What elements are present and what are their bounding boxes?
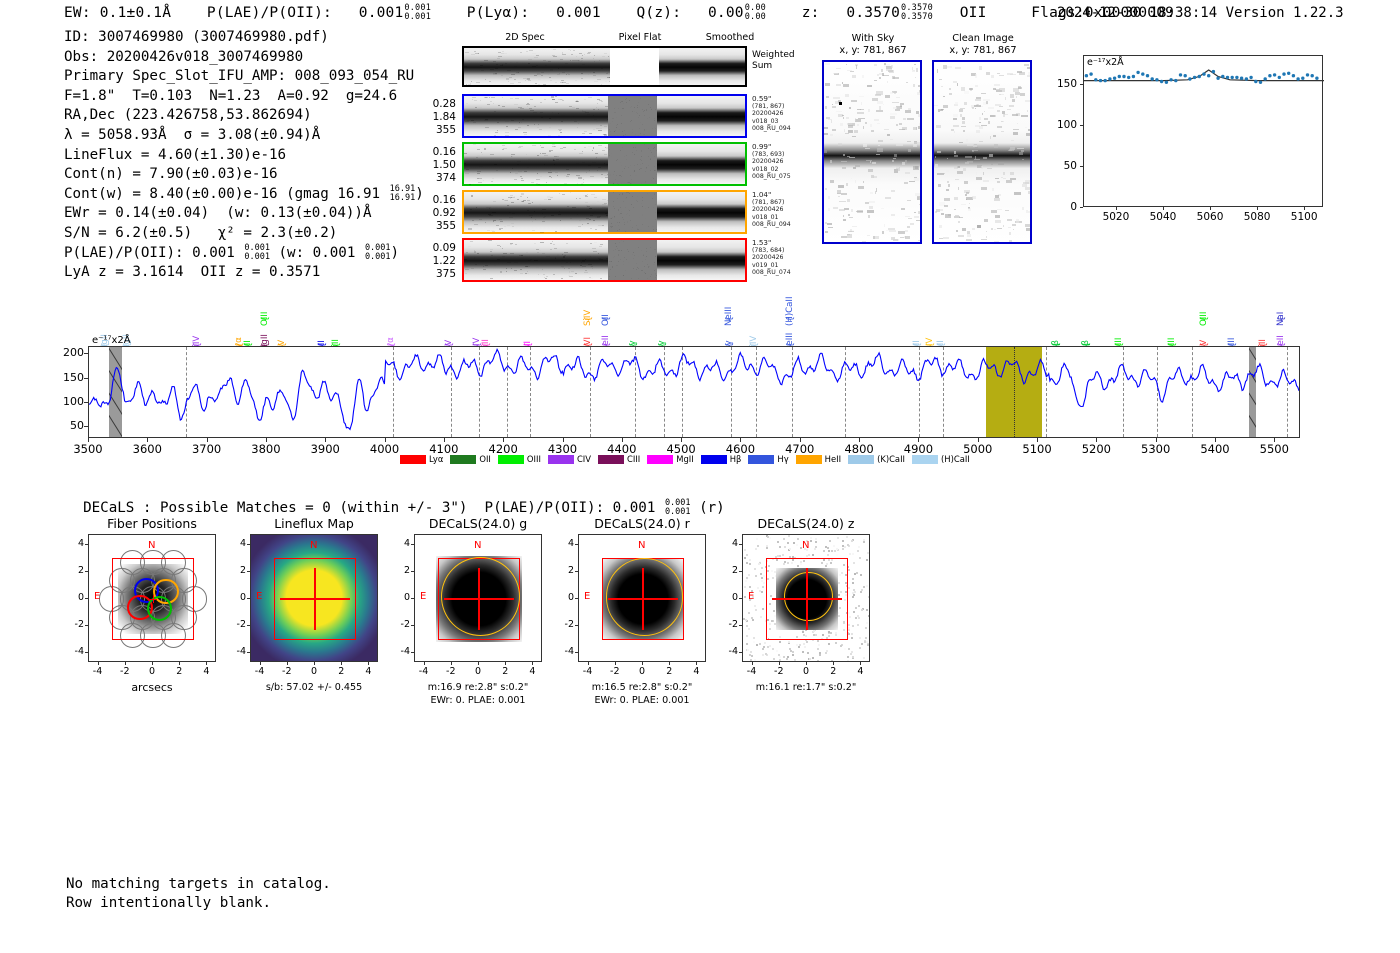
sky-noise <box>903 118 906 120</box>
sky-noise <box>965 156 972 158</box>
sky-noise <box>976 172 977 175</box>
noise-speckle <box>521 255 522 256</box>
noise-speckle <box>654 120 655 121</box>
sky-noise <box>946 66 952 68</box>
sky-noise <box>878 145 881 146</box>
header-qz-lo: 0.00 <box>745 12 766 22</box>
x-tick-mark <box>152 662 153 665</box>
image-noise <box>788 535 790 537</box>
sky-noise <box>954 131 956 133</box>
image-noise <box>755 609 757 611</box>
noise-speckle <box>637 201 638 202</box>
sky-noise <box>997 181 1000 183</box>
east-label: E <box>420 591 426 602</box>
noise-speckle <box>538 184 539 185</box>
noise-speckle <box>612 121 613 122</box>
sky-noise <box>1025 187 1030 190</box>
legend-swatch <box>848 455 874 464</box>
noise-speckle <box>597 201 599 202</box>
noise-speckle <box>632 132 633 133</box>
noise-speckle <box>474 224 478 225</box>
noise-speckle <box>593 129 595 130</box>
with-sky-coords: x, y: 781, 867 <box>818 45 928 57</box>
y-tick-label: -4 <box>226 646 246 657</box>
noise-speckle <box>624 168 625 169</box>
noise-speckle <box>572 207 576 208</box>
image-noise <box>849 553 851 555</box>
noise-speckle <box>628 262 629 263</box>
x-tick-label: -2 <box>768 666 790 677</box>
noise-speckle <box>618 250 619 251</box>
fiber-meta-amp: 008_RU_094 <box>752 221 812 229</box>
image-noise <box>763 575 765 577</box>
image-noise <box>812 657 814 659</box>
zoom-spectrum-svg <box>1084 56 1324 208</box>
y-tick-mark <box>575 652 578 653</box>
x-tick-mark <box>424 662 425 665</box>
image-noise <box>847 544 849 546</box>
image-noise <box>807 652 809 654</box>
noise-speckle <box>550 170 551 171</box>
image-noise <box>758 563 760 565</box>
noise-speckle <box>642 214 643 215</box>
x-tick-label: -4 <box>249 666 271 677</box>
noise-speckle <box>570 50 571 51</box>
noise-speckle <box>639 169 640 170</box>
sky-noise <box>847 123 853 125</box>
sky-noise <box>905 110 912 113</box>
noise-speckle <box>493 103 494 104</box>
fiber-meta-xy: (783, 693) <box>752 151 812 159</box>
sky-noise <box>984 219 989 221</box>
noise-speckle <box>602 204 606 205</box>
sky-noise <box>838 185 844 188</box>
sky-noise <box>863 144 867 147</box>
noise-speckle <box>598 109 599 110</box>
image-noise <box>834 550 836 552</box>
image-noise <box>863 657 865 659</box>
y-tick-label: -2 <box>64 619 84 630</box>
noise-speckle <box>542 253 545 254</box>
sky-noise <box>853 167 856 168</box>
x-tick-label: -2 <box>604 666 626 677</box>
sky-noise <box>959 217 963 218</box>
noise-speckle <box>511 74 515 75</box>
image-noise <box>837 537 839 539</box>
sky-noise <box>954 155 958 157</box>
noise-speckle <box>470 241 472 242</box>
noise-speckle <box>558 68 559 69</box>
sky-noise <box>953 114 959 117</box>
x-tick-mark <box>860 662 861 665</box>
noise-speckle <box>481 152 482 153</box>
fiber-weight-value: 1.84 <box>410 111 456 124</box>
noise-speckle <box>641 270 642 271</box>
sky-noise <box>967 161 973 163</box>
noise-speckle <box>549 176 551 177</box>
image-noise <box>864 641 866 643</box>
noise-speckle <box>595 229 598 230</box>
noise-speckle <box>648 156 649 157</box>
sky-noise <box>945 214 951 217</box>
noise-speckle <box>637 164 638 165</box>
image-noise <box>819 654 821 656</box>
noise-speckle <box>618 108 619 109</box>
sky-noise <box>1019 152 1023 154</box>
noise-speckle <box>629 100 630 101</box>
x-tick-mark <box>615 662 616 665</box>
sky-noise <box>842 115 844 116</box>
x-tick-label: 5100 <box>1015 442 1059 456</box>
info-primary-slot: Primary Spec_Slot_IFU_AMP: 008_093_054_R… <box>64 67 424 87</box>
sky-noise <box>847 234 850 236</box>
image-noise <box>753 637 755 639</box>
noise-speckle <box>642 206 643 207</box>
noise-speckle <box>645 182 646 183</box>
noise-speckle <box>512 226 513 227</box>
sky-noise <box>891 214 895 216</box>
fiber-meta-date: 20200426 <box>752 110 812 118</box>
noise-speckle <box>646 109 647 110</box>
sky-noise <box>975 99 981 100</box>
sky-noise <box>935 211 937 213</box>
sky-noise <box>1012 114 1019 116</box>
sky-noise <box>892 76 896 78</box>
noise-speckle <box>644 266 645 267</box>
sky-noise <box>895 109 899 111</box>
sky-noise <box>944 198 950 201</box>
sky-noise <box>867 235 870 236</box>
fiber-weight-labels: 0.161.50374 <box>410 146 456 185</box>
image-noise <box>842 545 844 547</box>
noise-speckle <box>474 257 475 258</box>
noise-speckle <box>581 183 583 184</box>
sky-noise <box>918 85 922 87</box>
noise-speckle <box>611 218 612 219</box>
noise-speckle <box>626 214 627 215</box>
zoom-spectrum-axes: e⁻¹⁷x2Å <box>1083 55 1323 207</box>
y-tick-mark <box>1080 125 1083 126</box>
sky-noise <box>1027 75 1031 77</box>
noise-speckle <box>562 100 563 101</box>
sky-noise <box>870 192 873 195</box>
noise-speckle <box>605 81 607 82</box>
noise-speckle <box>508 81 510 82</box>
sky-noise <box>886 69 892 72</box>
noise-speckle <box>497 58 500 59</box>
fiber-weight-value: 0.28 <box>410 98 456 111</box>
sky-noise <box>914 64 916 66</box>
legend-item-oii: OII <box>450 454 491 464</box>
north-label: N <box>310 540 317 551</box>
sky-noise <box>919 212 922 214</box>
noise-speckle <box>578 61 582 62</box>
image-noise <box>861 643 863 645</box>
sky-noise <box>825 83 830 86</box>
sky-noise <box>999 75 1004 76</box>
sky-noise <box>848 231 854 233</box>
noise-speckle <box>637 196 638 197</box>
noise-speckle <box>541 147 544 148</box>
noise-speckle <box>526 154 527 155</box>
noise-speckle <box>644 115 645 116</box>
sky-noise <box>964 91 969 94</box>
noise-speckle <box>512 168 513 169</box>
noise-speckle <box>592 268 593 269</box>
sky-noise <box>1025 224 1031 227</box>
noise-speckle <box>583 179 584 180</box>
image-noise <box>766 547 768 549</box>
noise-speckle <box>602 134 605 135</box>
noise-speckle <box>638 102 639 103</box>
noise-speckle <box>613 206 614 207</box>
sky-noise <box>955 67 961 69</box>
y-tick-mark <box>84 353 88 354</box>
noise-speckle <box>589 170 590 171</box>
noise-speckle <box>537 74 538 75</box>
noise-speckle <box>558 99 562 100</box>
noise-speckle <box>626 197 627 198</box>
legend-swatch <box>450 455 476 464</box>
image-noise <box>762 596 764 598</box>
image-noise <box>749 559 751 561</box>
noise-speckle <box>525 80 526 81</box>
noise-speckle <box>498 105 500 106</box>
noise-speckle <box>484 120 488 121</box>
image-noise <box>868 615 870 617</box>
sky-noise <box>979 66 982 69</box>
noise-speckle <box>524 134 527 135</box>
image-noise <box>810 540 812 542</box>
noise-speckle <box>609 264 610 265</box>
sky-noise <box>893 239 900 241</box>
noise-speckle <box>483 180 484 181</box>
fiber-weight-value: 0.16 <box>410 146 456 159</box>
y-tick-mark <box>411 571 414 572</box>
x-tick-mark <box>1163 207 1164 210</box>
sky-noise <box>1027 67 1031 69</box>
noise-speckle <box>598 258 601 259</box>
noise-speckle <box>626 102 627 103</box>
noise-speckle <box>619 242 620 243</box>
noise-speckle <box>587 206 591 207</box>
sky-noise <box>1022 207 1024 210</box>
image-noise <box>746 635 748 637</box>
noise-speckle <box>622 171 623 172</box>
cutout-image-1 <box>250 534 378 662</box>
with-sky-title-text: With Sky <box>818 33 928 45</box>
sky-noise <box>943 105 948 108</box>
sky-noise <box>896 124 898 127</box>
y-tick-mark <box>575 544 578 545</box>
weighted-sum-label: Weighted Sum <box>752 50 795 72</box>
sky-noise <box>986 231 988 232</box>
noise-speckle <box>468 60 470 61</box>
image-noise <box>772 648 774 650</box>
x-tick-label: -4 <box>577 666 599 677</box>
x-tick-label: -4 <box>87 666 109 677</box>
sky-noise <box>865 148 870 149</box>
image-noise <box>754 605 756 607</box>
sky-image-data <box>934 62 1030 242</box>
sky-noise <box>960 114 963 117</box>
sky-noise <box>1010 172 1014 175</box>
noise-speckle <box>592 213 593 214</box>
noise-speckle <box>473 122 476 123</box>
noise-speckle <box>490 147 492 148</box>
noise-speckle <box>608 218 609 219</box>
sky-noise <box>991 163 993 165</box>
noise-speckle <box>584 147 586 148</box>
info-wavelength-sigma: λ = 5058.93Å σ = 3.08(±0.94)Å <box>64 126 424 146</box>
noise-speckle <box>574 149 576 150</box>
noise-speckle <box>627 192 628 193</box>
sky-noise <box>913 84 915 87</box>
east-label: E <box>584 591 590 602</box>
sky-noise <box>1024 64 1029 66</box>
noise-speckle <box>640 98 641 99</box>
noise-speckle <box>534 106 536 107</box>
y-tick-label: 150 <box>1045 78 1077 90</box>
sky-noise <box>899 123 901 125</box>
image-noise <box>858 617 860 619</box>
info-sn-chi2: S/N = 6.2(±0.5) χ² = 2.3(±0.2) <box>64 224 424 244</box>
noise-speckle <box>497 122 499 123</box>
noise-speckle <box>640 229 641 230</box>
east-label: E <box>748 591 754 602</box>
noise-speckle <box>520 52 522 53</box>
noise-speckle <box>625 231 626 232</box>
sky-noise <box>1020 93 1026 96</box>
sky-noise <box>890 113 897 115</box>
sky-noise <box>937 69 938 72</box>
noise-speckle <box>611 156 612 157</box>
image-noise <box>761 580 763 582</box>
sky-noise <box>894 154 896 157</box>
image-noise <box>806 641 808 643</box>
sky-noise <box>975 108 976 109</box>
sky-noise <box>887 134 890 135</box>
sky-noise <box>833 73 839 74</box>
crosshair-v <box>153 595 154 603</box>
noise-speckle <box>637 107 638 108</box>
noise-speckle <box>593 251 597 252</box>
noise-speckle <box>537 252 539 253</box>
sky-noise <box>896 144 903 146</box>
image-noise <box>846 536 848 538</box>
image-noise <box>809 658 811 660</box>
sky-noise <box>879 73 882 76</box>
noise-speckle <box>522 63 526 64</box>
noise-speckle <box>598 145 601 146</box>
image-noise <box>748 628 750 630</box>
sky-noise <box>905 172 911 174</box>
sky-noise <box>955 102 957 105</box>
noise-speckle <box>546 256 550 257</box>
noise-speckle <box>527 125 529 126</box>
north-label: N <box>802 540 809 551</box>
sky-noise <box>910 223 914 225</box>
sky-noise <box>972 196 976 199</box>
info-cont-w-prefix: Cont(w) = 8.40(±0.00)e-16 (gmag 16.91 <box>64 186 389 202</box>
noise-speckle <box>600 244 602 245</box>
noise-speckle <box>542 209 545 210</box>
sky-noise <box>867 85 871 87</box>
sky-noise <box>855 165 860 167</box>
noise-speckle <box>566 169 570 170</box>
y-tick-label: 2 <box>390 565 410 576</box>
fiber-meta: 0.59"(781, 867)20200426v018_03008_RU_094 <box>752 95 812 133</box>
legend-label: CIV <box>577 454 591 464</box>
image-noise <box>836 554 838 556</box>
legend-item-mgii: MgII <box>647 454 693 464</box>
noise-speckle <box>552 146 556 147</box>
cutout-image-4 <box>742 534 870 662</box>
x-tick-mark <box>368 662 369 665</box>
x-tick-mark <box>642 662 643 665</box>
sky-noise <box>961 87 966 90</box>
noise-speckle <box>620 150 621 151</box>
noise-speckle <box>535 219 537 220</box>
noise-speckle <box>532 230 535 231</box>
header-plya-label: P(Lyα): <box>467 5 530 21</box>
noise-speckle <box>559 211 560 212</box>
noise-speckle <box>597 170 598 171</box>
noise-speckle <box>592 48 594 49</box>
image-noise <box>758 661 760 662</box>
sky-noise <box>944 205 948 206</box>
sky-noise <box>984 118 988 120</box>
image-noise <box>863 541 865 543</box>
sky-noise <box>832 106 836 108</box>
noise-speckle <box>514 262 517 263</box>
noise-speckle <box>487 104 490 105</box>
image-noise <box>753 641 755 643</box>
noise-speckle <box>555 172 557 173</box>
header-z-value: 0.3570 <box>846 5 900 21</box>
sky-noise <box>914 142 920 144</box>
noise-speckle <box>577 127 578 128</box>
noise-speckle <box>652 154 653 155</box>
header-z-label: z: <box>802 5 820 21</box>
sky-noise <box>994 241 1000 243</box>
y-tick-mark <box>411 544 414 545</box>
image-noise <box>827 554 829 556</box>
sky-noise <box>868 109 870 112</box>
noise-speckle <box>641 156 642 157</box>
noise-speckle <box>625 166 626 167</box>
sky-noise <box>1007 73 1013 75</box>
noise-speckle <box>582 260 585 261</box>
image-noise <box>756 644 758 646</box>
sky-noise <box>842 167 846 169</box>
y-tick-mark <box>85 652 88 653</box>
noise-speckle <box>590 228 592 229</box>
sky-noise <box>939 225 942 228</box>
noise-speckle <box>500 221 503 222</box>
sky-noise <box>863 181 864 182</box>
image-noise <box>812 554 814 556</box>
image-noise <box>747 649 749 651</box>
sky-noise <box>972 228 975 230</box>
noise-speckle <box>564 268 565 269</box>
noise-speckle <box>546 182 547 183</box>
noise-speckle <box>479 219 482 220</box>
x-tick-mark <box>314 662 315 665</box>
noise-speckle <box>588 165 590 166</box>
noise-speckle <box>566 243 568 244</box>
fiber-meta-date: 20200426 <box>752 254 812 262</box>
